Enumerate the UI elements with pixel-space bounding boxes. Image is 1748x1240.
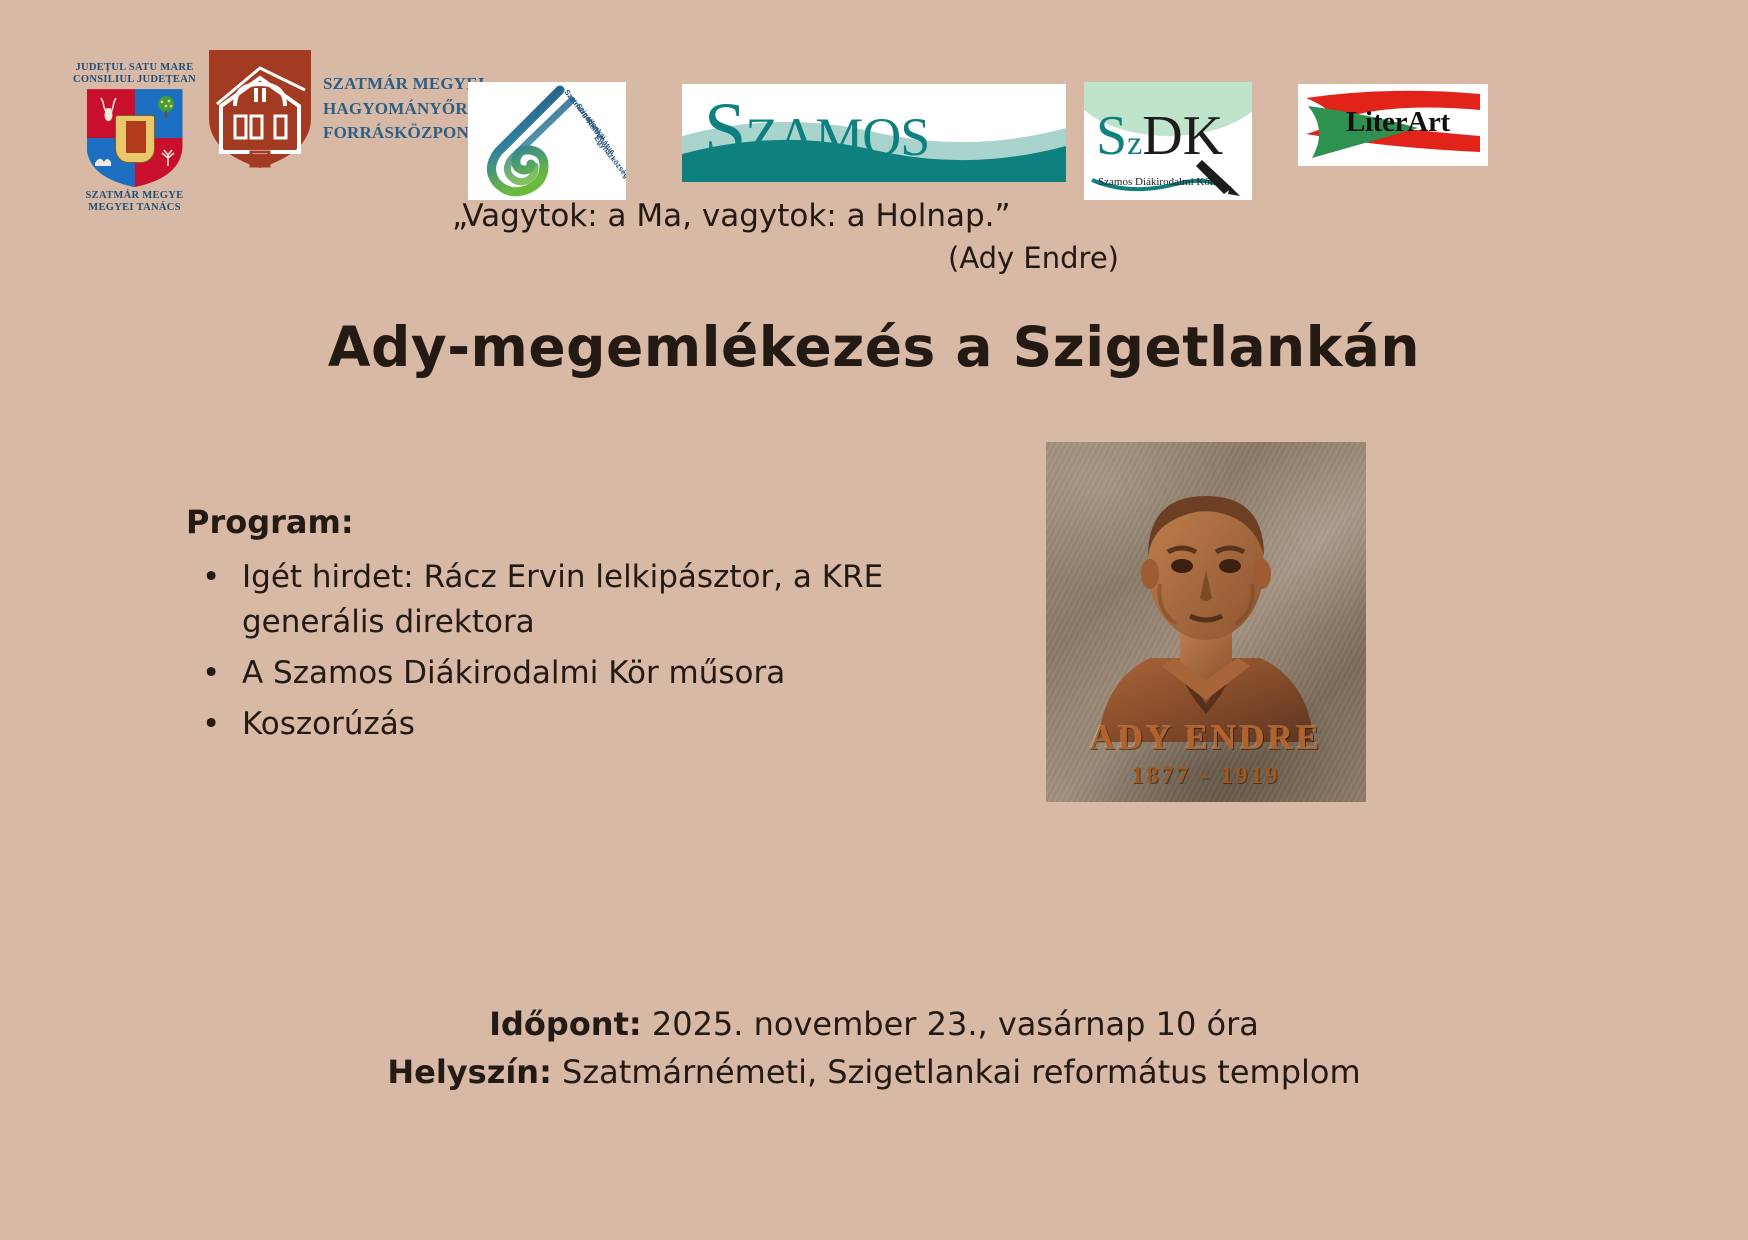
- ady-endre-plaque-photo: ADY ENDRE 1877 - 1919: [1046, 442, 1366, 802]
- list-item: • Igét hirdet: Rácz Ervin lelkipásztor, …: [186, 555, 946, 645]
- heritage-house-shield-icon: [205, 48, 315, 170]
- logo-szigetlankai-reformatus-egyhazkozseg: Szatmárnémeti Szigetlankai Református Eg…: [468, 82, 626, 200]
- event-place-label: Helyszín:: [387, 1053, 552, 1091]
- event-date-value: 2025. november 23., vasárnap 10 óra: [642, 1005, 1259, 1043]
- branch-icon: [158, 149, 178, 167]
- page-title: Ady-megemlékezés a Szigetlankán: [0, 315, 1748, 379]
- literart-wordmark: LiterArt: [1346, 106, 1450, 139]
- logo-bar: JUDEȚUL SATU MARE CONSILIUL JUDEȚEAN: [0, 34, 1748, 184]
- council-name-hu-line1: SZATMÁR MEGYE: [52, 190, 217, 202]
- logo-literart: LiterArt: [1298, 84, 1488, 166]
- plaque-name: ADY ENDRE: [1046, 718, 1366, 758]
- logo-satu-mare-county-council: JUDEȚUL SATU MARE CONSILIUL JUDEȚEAN: [52, 62, 217, 207]
- bullet-icon: •: [202, 555, 220, 600]
- szdk-subtitle: Szamos Diákirodalmi Kör: [1098, 176, 1213, 188]
- tree-icon: [155, 95, 177, 119]
- council-name-hu-line2: MEGYEI TANÁCS: [52, 202, 217, 214]
- bullet-icon: •: [202, 702, 220, 747]
- program-list: • Igét hirdet: Rácz Ervin lelkipásztor, …: [186, 555, 946, 747]
- list-item-label: Koszorúzás: [242, 706, 415, 742]
- event-place-row: Helyszín: Szatmárnémeti, Szigetlankai re…: [0, 1048, 1748, 1096]
- event-details: Időpont: 2025. november 23., vasárnap 10…: [0, 1000, 1748, 1096]
- list-item: • A Szamos Diákirodalmi Kör műsora: [186, 651, 946, 696]
- logo-hagyomanyorzo-forraskozpont: SZATMÁR MEGYEI HAGYOMÁNYŐRZŐ FORRÁSKÖZPO…: [205, 48, 445, 208]
- poster-canvas: JUDEȚUL SATU MARE CONSILIUL JUDEȚEAN: [0, 0, 1748, 1240]
- ady-quote: „Vagytok: a Ma, vagytok: a Holnap.”: [452, 198, 1011, 234]
- bird-icon: [93, 153, 113, 169]
- szdk-letter-s: S: [1096, 105, 1127, 167]
- program-heading: Program:: [186, 503, 946, 541]
- coat-of-arms-icon: [87, 89, 183, 187]
- event-date-label: Időpont:: [489, 1005, 642, 1043]
- szdk-wordmark: SzDK: [1096, 108, 1223, 164]
- list-item-label: A Szamos Diákirodalmi Kör műsora: [242, 655, 785, 691]
- program-section: Program: • Igét hirdet: Rácz Ervin lelki…: [186, 503, 946, 753]
- ady-quote-author: (Ady Endre): [948, 241, 1119, 275]
- water-drop-spiral-icon: Szatmárnémeti Szigetlankai Református Eg…: [468, 82, 626, 200]
- list-item-label: Igét hirdet: Rácz Ervin lelkipásztor, a …: [242, 559, 883, 640]
- szdk-letter-z: z: [1127, 125, 1142, 162]
- list-item: • Koszorúzás: [186, 702, 946, 747]
- plaque-years: 1877 - 1919: [1046, 763, 1366, 790]
- council-name-ro-line2: CONSILIUL JUDEȚEAN: [52, 74, 217, 86]
- bullet-icon: •: [202, 651, 220, 696]
- council-name-ro-line1: JUDEȚUL SATU MARE: [52, 62, 217, 74]
- logo-szdk: SzDK Szamos Diákirodalmi Kör: [1084, 82, 1252, 200]
- event-date-row: Időpont: 2025. november 23., vasárnap 10…: [0, 1000, 1748, 1048]
- logo-szamos: SZAMOS: [682, 84, 1066, 182]
- szamos-wordmark: SZAMOS: [704, 92, 929, 168]
- tower-icon: [126, 125, 146, 153]
- szdk-letters-dk: DK: [1142, 105, 1223, 167]
- ady-endre-relief-portrait-icon: [1080, 474, 1330, 742]
- inner-shield-icon: [115, 115, 155, 163]
- event-place-value: Szatmárnémeti, Szigetlankai református t…: [552, 1053, 1361, 1091]
